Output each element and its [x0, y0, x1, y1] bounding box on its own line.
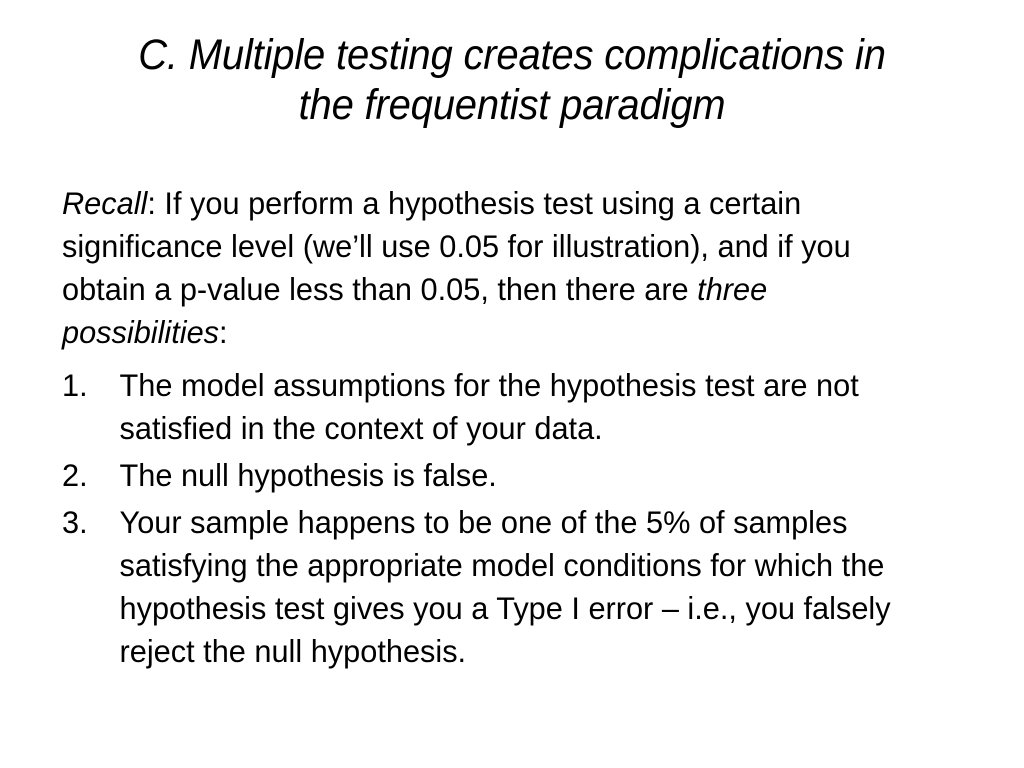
recall-trailing-colon: : — [219, 314, 228, 350]
list-item-marker: 3. — [62, 501, 103, 544]
slide-title-line-1: C. Multiple testing creates complication… — [94, 30, 931, 80]
recall-emphasis: Recall — [62, 185, 147, 221]
possibilities-list: 1. The model assumptions for the hypothe… — [62, 364, 940, 673]
slide-title: C. Multiple testing creates complication… — [94, 30, 931, 130]
list-item: 2. The null hypothesis is false. — [62, 454, 940, 497]
slide-canvas: C. Multiple testing creates complication… — [0, 0, 1024, 768]
list-item-marker: 2. — [62, 454, 103, 497]
slide-title-line-2: the frequentist paradigm — [94, 80, 931, 130]
recall-paragraph: Recall: If you perform a hypothesis test… — [62, 182, 940, 354]
list-item-marker: 1. — [62, 364, 103, 407]
list-item: 3. Your sample happens to be one of the … — [62, 501, 940, 673]
list-item-text: The null hypothesis is false. — [120, 454, 940, 497]
list-item: 1. The model assumptions for the hypothe… — [62, 364, 940, 450]
slide-body: Recall: If you perform a hypothesis test… — [62, 182, 962, 673]
list-item-text: Your sample happens to be one of the 5% … — [120, 501, 940, 673]
list-item-text: The model assumptions for the hypothesis… — [120, 364, 940, 450]
